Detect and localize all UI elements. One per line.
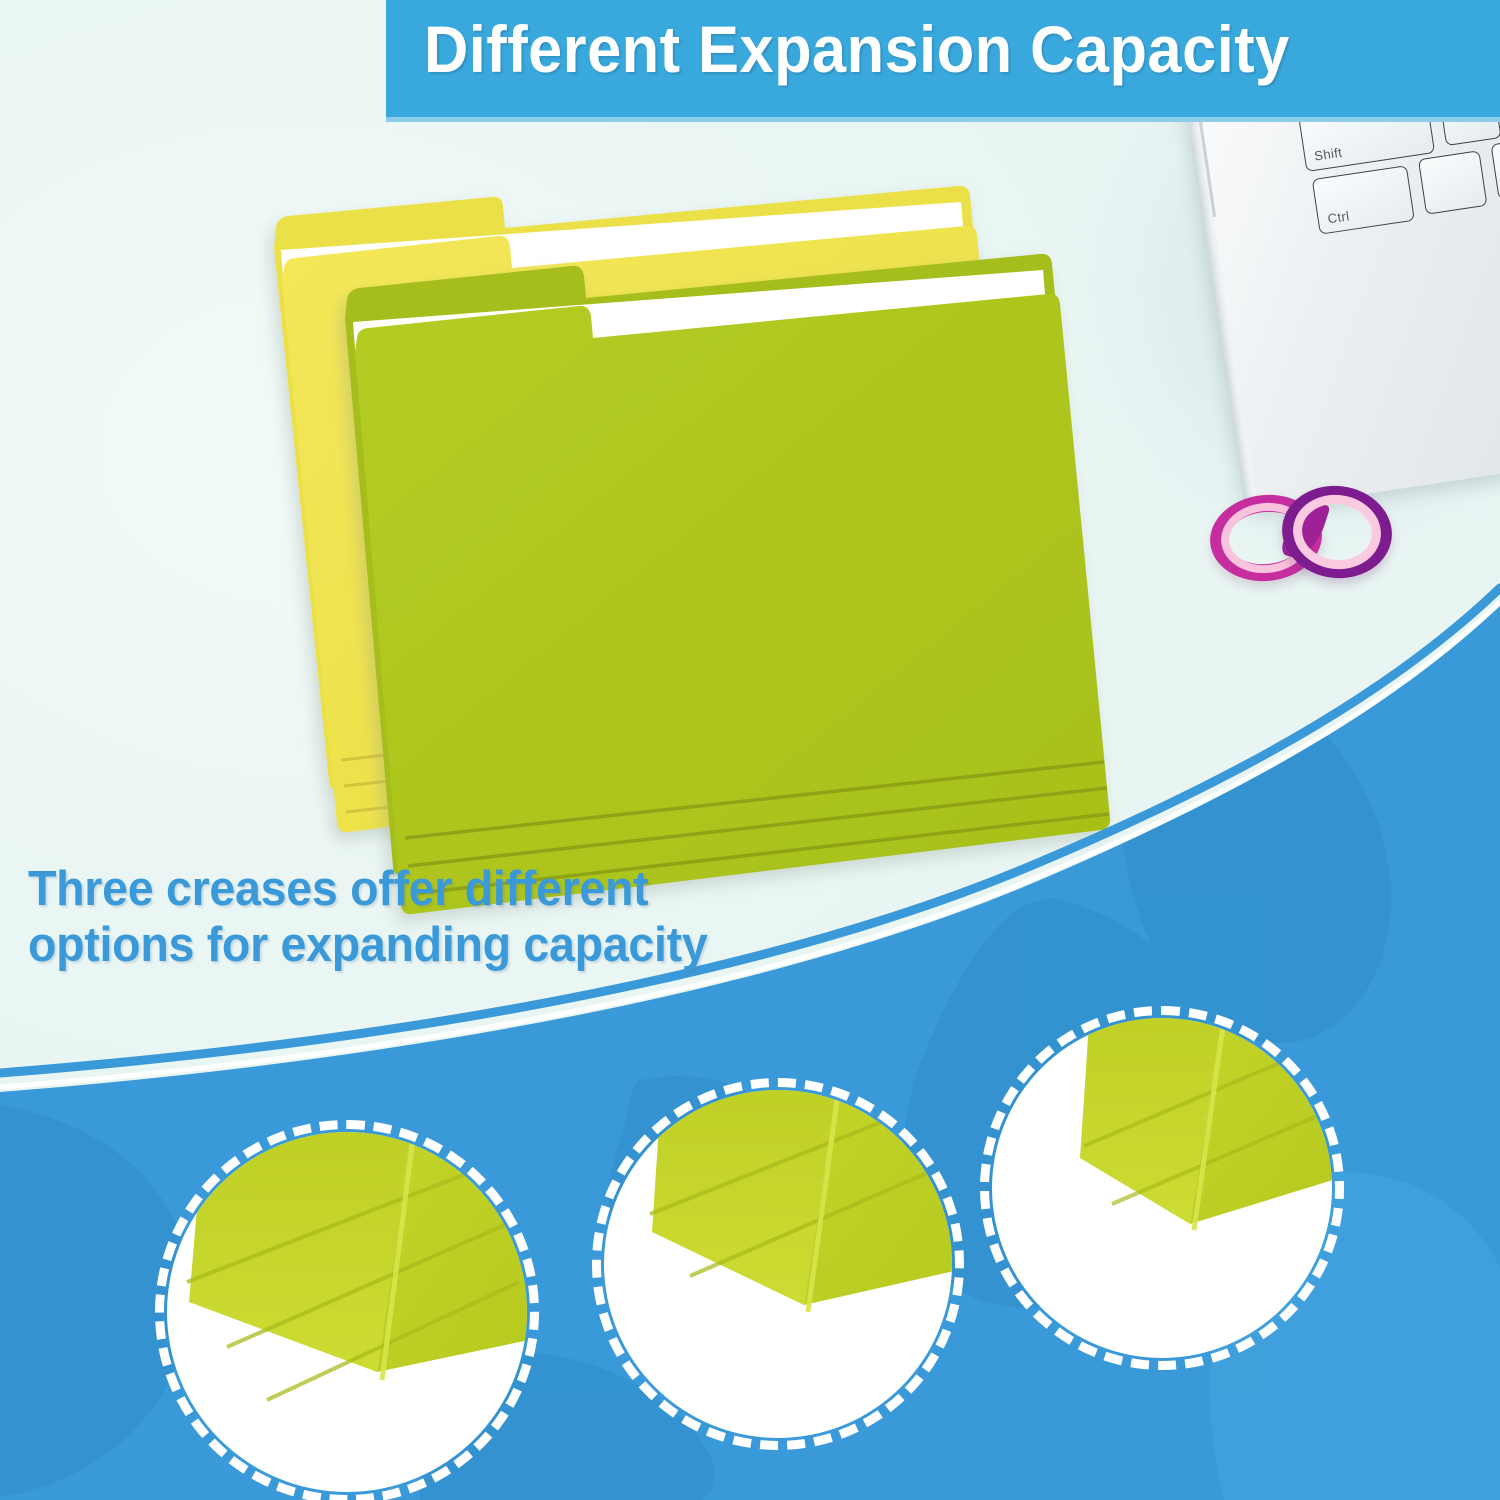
caption-line-2: options for expanding capacity: [28, 918, 883, 974]
product-feature-image: Caps A S D Shift Z X C V Ctrl: [0, 0, 1500, 1500]
crease-detail-3-art: [992, 1018, 1332, 1358]
crease-detail-2: [604, 1090, 952, 1438]
front-folder-lime: [345, 254, 1110, 914]
front-folder-front-panel: [355, 294, 1110, 914]
caption-line-1: Three creases offer different: [28, 862, 883, 918]
crease-detail-1-clip: [167, 1132, 527, 1492]
crease-detail-2-art: [604, 1090, 952, 1438]
headline-banner: Different Expansion Capacity: [386, 0, 1500, 122]
banner-underline: [386, 117, 1500, 122]
crease-detail-2-clip: [604, 1090, 952, 1438]
crease-detail-1-art: [167, 1132, 527, 1492]
page-title: Different Expansion Capacity: [424, 16, 1415, 82]
crease-detail-1: [167, 1132, 527, 1492]
caption-text: Three creases offer different options fo…: [28, 862, 883, 974]
crease-detail-3: [992, 1018, 1332, 1358]
crease-detail-3-clip: [992, 1018, 1332, 1358]
